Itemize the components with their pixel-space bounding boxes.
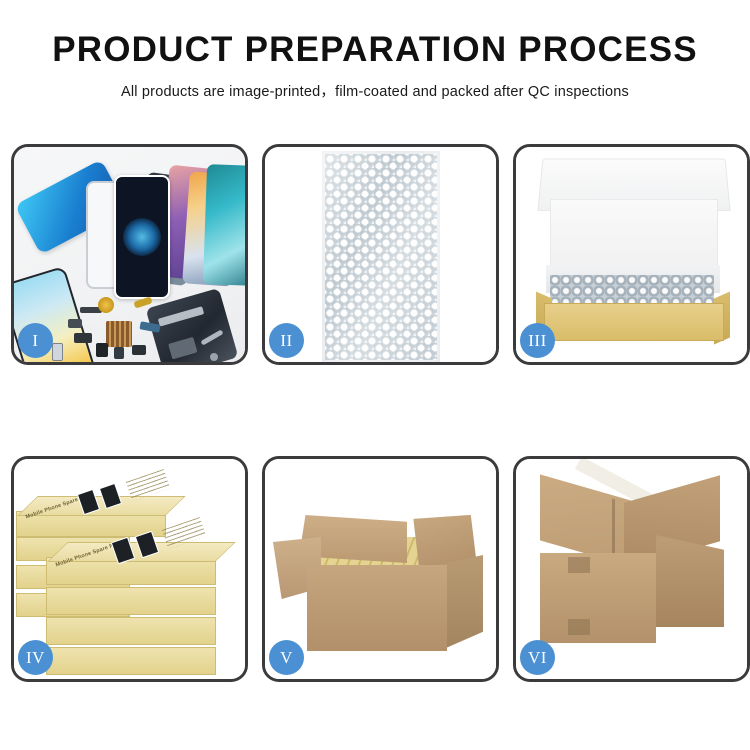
process-step-panel-1: I bbox=[11, 144, 248, 365]
retail-box-front-3 bbox=[46, 647, 216, 675]
small-part-e bbox=[68, 319, 82, 328]
header: PRODUCT PREPARATION PROCESS All products… bbox=[0, 0, 750, 101]
bubble-wrapped-product bbox=[550, 275, 714, 305]
retail-box-front-2 bbox=[46, 617, 216, 645]
carton-front-face bbox=[307, 565, 447, 651]
step-badge-6: VI bbox=[520, 640, 555, 675]
process-step-panel-2: II bbox=[262, 144, 499, 365]
retail-box-stack: Mobile Phone Spare Parts Mobile Phone Sp… bbox=[14, 465, 245, 675]
plastic-sheen bbox=[322, 151, 440, 362]
process-step-panel-4: Mobile Phone Spare Parts Mobile Phone Sp… bbox=[11, 456, 248, 682]
camera-module bbox=[52, 343, 63, 361]
carton-top-seam bbox=[612, 499, 615, 558]
step-badge-2: II bbox=[269, 323, 304, 358]
page-title: PRODUCT PREPARATION PROCESS bbox=[0, 32, 750, 69]
screws bbox=[210, 353, 218, 361]
carton-handle-cutout-bottom bbox=[568, 619, 590, 635]
step-badge-1: I bbox=[18, 323, 53, 358]
small-part-d bbox=[132, 345, 146, 355]
page-subtitle: All products are image-printed，film-coat… bbox=[0, 80, 750, 101]
inner-box-front-wall bbox=[544, 303, 724, 341]
product-preparation-infographic: PRODUCT PREPARATION PROCESS All products… bbox=[0, 0, 750, 750]
process-step-panel-5: V bbox=[262, 456, 499, 682]
process-step-panel-3: III bbox=[513, 144, 750, 365]
step-badge-3: III bbox=[520, 323, 555, 358]
lcd-assembly-dark-blue bbox=[114, 175, 170, 299]
sealed-carton-front-face bbox=[540, 553, 656, 643]
bubble-wrap-sleeve bbox=[322, 151, 440, 362]
small-part-c bbox=[114, 347, 124, 359]
process-step-grid: I II III bbox=[11, 144, 739, 682]
step-badge-4: IV bbox=[18, 640, 53, 675]
sealed-carton-right-face bbox=[656, 535, 724, 627]
carton-handle-cutout-top bbox=[568, 557, 590, 573]
process-step-panel-6: VI bbox=[513, 456, 750, 682]
grid-connector-part bbox=[106, 321, 132, 347]
retail-box-front-1 bbox=[46, 587, 216, 615]
gold-connector bbox=[98, 297, 114, 313]
phone-screen-teal bbox=[203, 164, 245, 286]
small-part-b bbox=[96, 343, 108, 357]
step-badge-5: V bbox=[269, 640, 304, 675]
small-part-a bbox=[74, 333, 92, 343]
